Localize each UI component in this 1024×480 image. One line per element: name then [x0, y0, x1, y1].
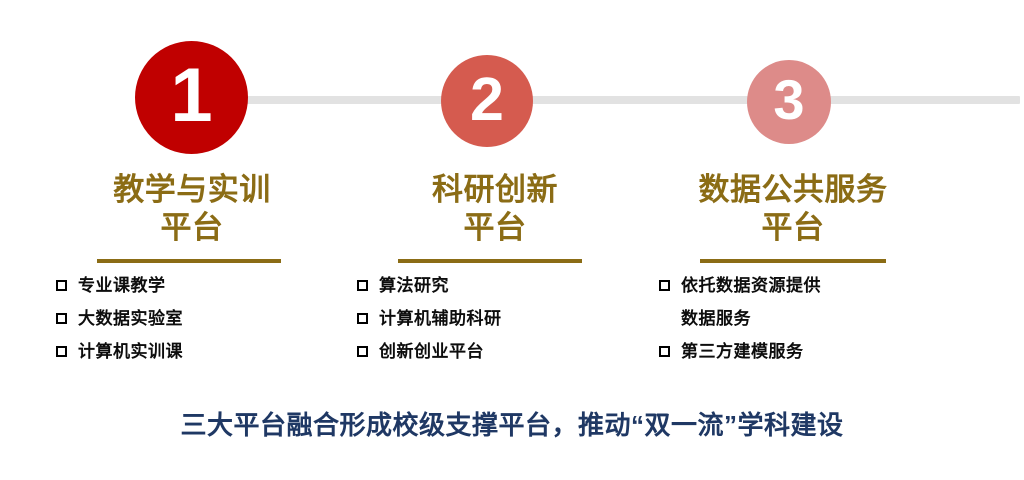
- bullet-list-3: 依托数据资源提供 数据服务 第三方建模服务: [643, 277, 943, 360]
- list-item[interactable]: 创新创业平台: [345, 343, 645, 360]
- list-item-continuation[interactable]: 数据服务: [643, 310, 943, 327]
- hollow-square-icon: [56, 313, 67, 324]
- platform-column-2: 2 科研创新 平台 算法研究 计算机辅助科研 创新创业平台: [345, 0, 645, 376]
- step-number-badge-1[interactable]: 1: [135, 41, 248, 154]
- bullet-label: 依托数据资源提供: [681, 277, 821, 294]
- list-item[interactable]: 依托数据资源提供: [643, 277, 943, 294]
- badge-row-1: 1: [42, 0, 342, 160]
- list-item[interactable]: 专业课教学: [42, 277, 342, 294]
- list-item[interactable]: 计算机实训课: [42, 343, 342, 360]
- badge-row-2: 2: [345, 0, 645, 160]
- bullet-list-1: 专业课教学 大数据实验室 计算机实训课: [42, 277, 342, 360]
- list-item[interactable]: 大数据实验室: [42, 310, 342, 327]
- hollow-square-icon: [56, 346, 67, 357]
- hollow-square-icon: [357, 346, 368, 357]
- step-number-badge-2[interactable]: 2: [441, 55, 533, 147]
- bullet-label: 数据服务: [681, 310, 751, 327]
- heading-underline-1: [97, 259, 281, 263]
- hollow-square-icon: [56, 280, 67, 291]
- bullet-label: 第三方建模服务: [681, 343, 804, 360]
- platform-columns: 1 教学与实训 平台 专业课教学 大数据实验室 计算机实训课: [0, 0, 1024, 400]
- bullet-label: 创新创业平台: [379, 343, 484, 360]
- list-item[interactable]: 第三方建模服务: [643, 343, 943, 360]
- platform-column-1: 1 教学与实训 平台 专业课教学 大数据实验室 计算机实训课: [42, 0, 342, 376]
- hollow-square-icon: [357, 313, 368, 324]
- badge-row-3: 3: [643, 0, 943, 160]
- bullet-label: 计算机实训课: [78, 343, 183, 360]
- list-item[interactable]: 计算机辅助科研: [345, 310, 645, 327]
- platform-heading-3: 数据公共服务 平台: [643, 171, 943, 247]
- platform-column-3: 3 数据公共服务 平台 依托数据资源提供 数据服务 第三方建模服务: [643, 0, 943, 376]
- step-number-3: 3: [773, 72, 804, 128]
- bullet-list-2: 算法研究 计算机辅助科研 创新创业平台: [345, 277, 645, 360]
- heading-underline-3: [700, 259, 886, 263]
- hollow-square-icon: [659, 346, 670, 357]
- bullet-label: 算法研究: [379, 277, 449, 294]
- bullet-label: 大数据实验室: [78, 310, 183, 327]
- bullet-label: 专业课教学: [78, 277, 166, 294]
- summary-caption: 三大平台融合形成校级支撑平台，推动“双一流”学科建设: [0, 405, 1024, 442]
- step-number-2: 2: [470, 69, 504, 130]
- step-number-badge-3[interactable]: 3: [747, 60, 831, 144]
- bullet-label: 计算机辅助科研: [379, 310, 502, 327]
- bullet-spacer: [659, 313, 670, 324]
- hollow-square-icon: [357, 280, 368, 291]
- step-number-1: 1: [170, 58, 212, 134]
- heading-underline-2: [398, 259, 582, 263]
- platform-heading-2: 科研创新 平台: [345, 171, 645, 247]
- platform-heading-1: 教学与实训 平台: [42, 171, 342, 247]
- slide-canvas: 1 教学与实训 平台 专业课教学 大数据实验室 计算机实训课: [0, 0, 1024, 480]
- hollow-square-icon: [659, 280, 670, 291]
- list-item[interactable]: 算法研究: [345, 277, 645, 294]
